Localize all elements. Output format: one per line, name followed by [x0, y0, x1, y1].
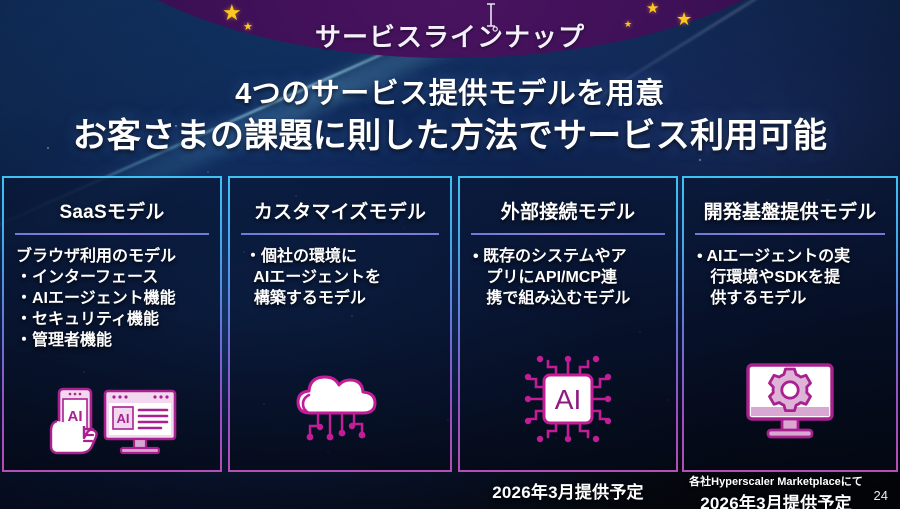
star-icon: ★: [646, 1, 659, 16]
phone-and-monitor-ai-icon: AI AI: [43, 385, 181, 461]
card-icon-area: AI: [459, 349, 677, 449]
svg-text:AI: AI: [117, 411, 130, 426]
banner-title: サービスラインナップ: [0, 17, 900, 54]
headline-line-1: 4つのサービス提供モデルを用意: [0, 78, 900, 111]
card-bullet: プリにAPI/MCP連: [467, 267, 669, 288]
card-title: 外部接続モデル: [467, 197, 669, 224]
card-bullet: 携で組み込むモデル: [467, 288, 669, 309]
card3-availability-main: 2026年3月提供予定: [458, 478, 678, 503]
model-cards-row: SaaSモデル ブラウザ利用のモデル ・インターフェース ・AIエージェント機能…: [0, 176, 900, 472]
card-bullet: ブラウザ利用のモデル: [11, 246, 213, 267]
card-divider: [241, 233, 439, 235]
card-divider: [471, 233, 665, 235]
card-bullet: AIエージェントを: [237, 267, 443, 288]
card-title: SaaSモデル: [11, 197, 213, 224]
card-bullet: ・AIエージェント機能: [11, 288, 213, 309]
svg-text:AI: AI: [68, 408, 83, 425]
ai-chip-icon: AI: [518, 349, 618, 449]
monitor-gear-icon: [738, 359, 842, 443]
card-bullet: ・管理者機能: [11, 330, 213, 351]
card3-availability-note: 2026年3月提供予定: [458, 478, 678, 503]
card-dev-platform-model[interactable]: 開発基盤提供モデル • AIエージェントの実 行環境やSDKを提 供するモデル: [682, 176, 898, 472]
text-cursor-icon: [484, 2, 498, 32]
card-bullet: 供するモデル: [691, 288, 889, 309]
headline-line-2: お客さまの課題に則した方法でサービス利用可能: [0, 117, 900, 155]
card4-availability-main: 2026年3月提供予定: [676, 489, 876, 509]
card-title: 開発基盤提供モデル: [691, 197, 889, 224]
card-divider: [695, 233, 885, 235]
card-body: ブラウザ利用のモデル ・インターフェース ・AIエージェント機能 ・セキュリティ…: [11, 246, 213, 352]
card-bullet: ・セキュリティ機能: [11, 309, 213, 330]
card-bullet: 行環境やSDKを提: [691, 267, 889, 288]
card4-availability-note: 各社Hyperscaler Marketplaceにて 2026年3月提供予定: [676, 473, 876, 509]
page-number: 24: [874, 488, 888, 503]
card-body: • 既存のシステムやア プリにAPI/MCP連 携で組み込むモデル: [467, 246, 669, 309]
card-divider: [15, 233, 209, 235]
cloud-network-icon: [284, 357, 396, 453]
card-bullet: ・個社の環境に: [237, 246, 443, 267]
svg-text:AI: AI: [555, 384, 581, 415]
card-bullet: • AIエージェントの実: [691, 246, 889, 267]
card-icon-area: AI AI: [3, 385, 221, 461]
card-icon-area: [683, 359, 897, 443]
headline-block: 4つのサービス提供モデルを用意 お客さまの課題に則した方法でサービス利用可能: [0, 78, 900, 155]
card-customize-model[interactable]: カスタマイズモデル ・個社の環境に AIエージェントを 構築するモデル: [228, 176, 452, 472]
card-external-connect-model[interactable]: 外部接続モデル • 既存のシステムやア プリにAPI/MCP連 携で組み込むモデ…: [458, 176, 678, 472]
card-bullet: ・インターフェース: [11, 267, 213, 288]
card-saas-model[interactable]: SaaSモデル ブラウザ利用のモデル ・インターフェース ・AIエージェント機能…: [2, 176, 222, 472]
card4-availability-sub: 各社Hyperscaler Marketplaceにて: [676, 473, 876, 489]
card-bullet: 構築するモデル: [237, 288, 443, 309]
card-body: • AIエージェントの実 行環境やSDKを提 供するモデル: [691, 246, 889, 309]
card-icon-area: [229, 357, 451, 453]
card-bullet: • 既存のシステムやア: [467, 246, 669, 267]
card-body: ・個社の環境に AIエージェントを 構築するモデル: [237, 246, 443, 309]
card-title: カスタマイズモデル: [237, 197, 443, 224]
slide-canvas: ★ ★ ★ ★ ★ サービスラインナップ 4つのサービス提供モデルを用意 お客さ…: [0, 0, 900, 509]
